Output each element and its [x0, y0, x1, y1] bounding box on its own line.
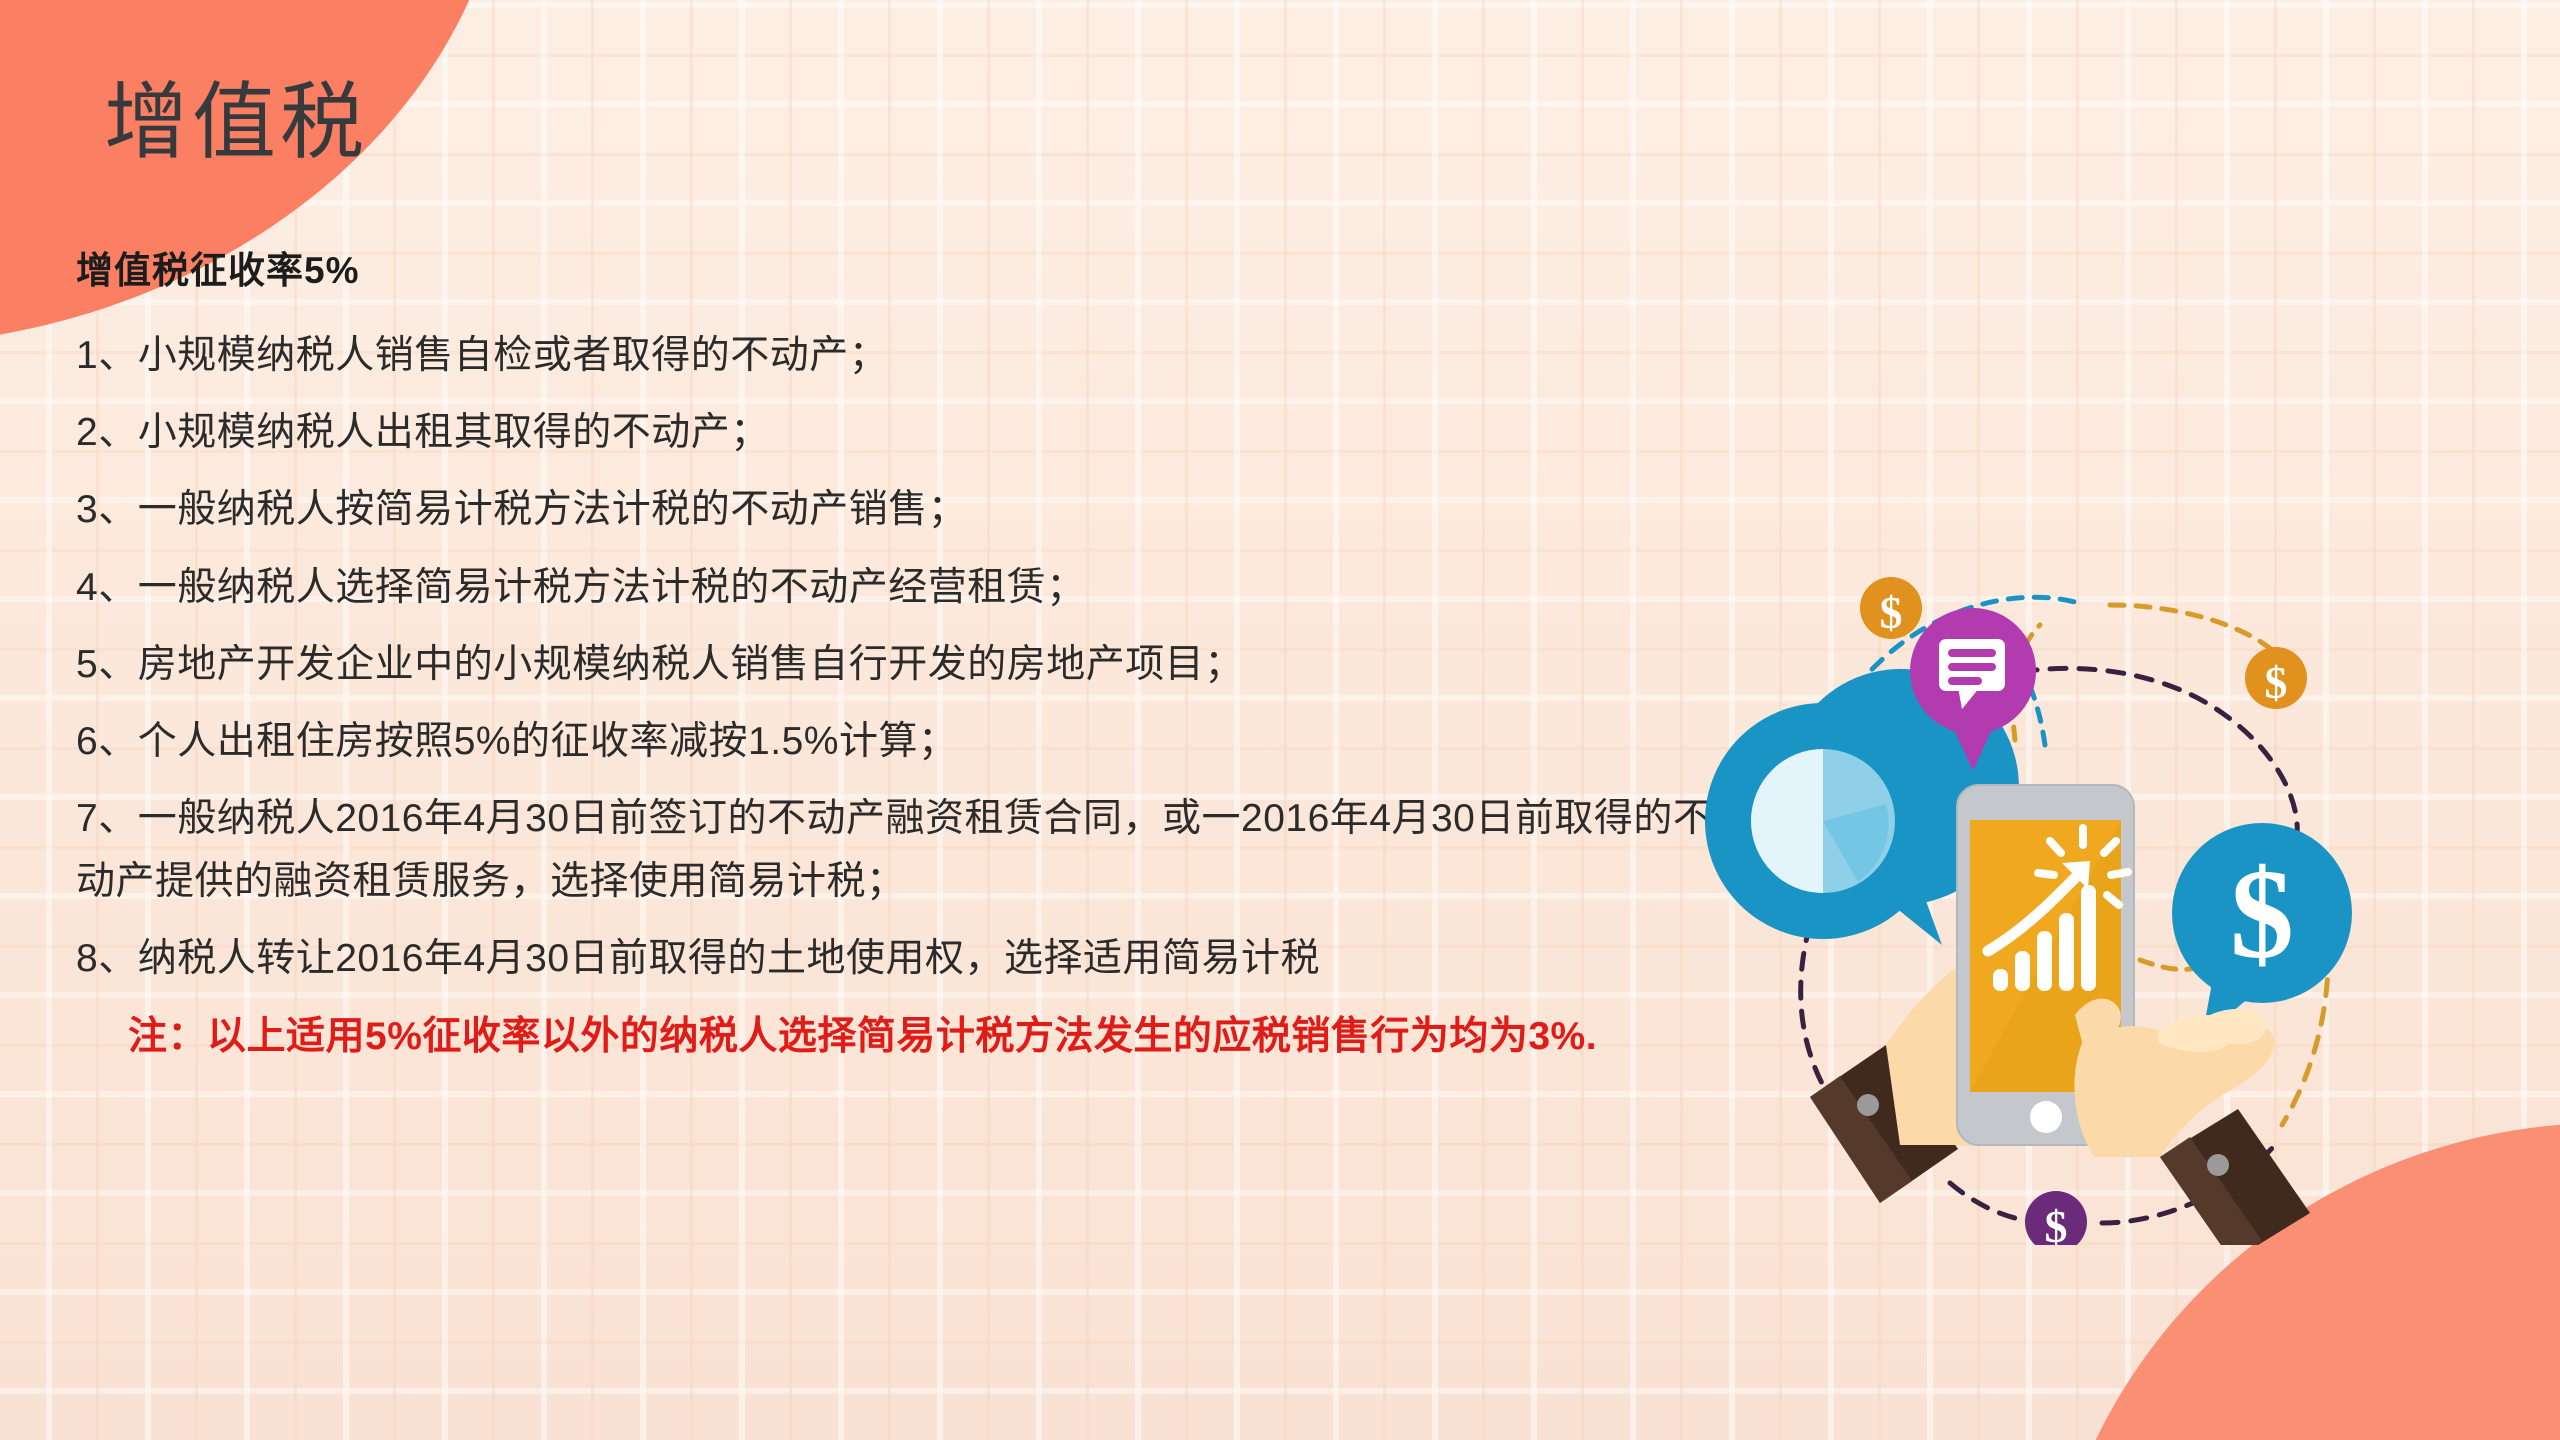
- subheading: 增值税征收率5%: [76, 240, 1716, 294]
- list-item: 2、小规模纳税人出租其取得的不动产；: [76, 401, 1716, 464]
- list-item: 7、一般纳税人2016年4月30日前签订的不动产融资租赁合同，或一2016年4月…: [76, 787, 1716, 913]
- list-item: 4、一般纳税人选择简易计税方法计税的不动产经营租赁；: [76, 556, 1716, 619]
- list-item: 3、一般纳税人按简易计税方法计税的不动产销售；: [76, 478, 1716, 541]
- mobile-business-analytics-illustration: $ $ $ $: [1690, 545, 2460, 1245]
- dollar-coin-top-right: $: [2245, 647, 2307, 709]
- svg-text:$: $: [2230, 843, 2294, 985]
- slide-canvas: 增值税 增值税征收率5% 1、小规模纳税人销售自检或者取得的不动产； 2、小规模…: [0, 0, 2560, 1440]
- dollar-coin-bottom: $: [2025, 1191, 2087, 1245]
- dollar-speech-bubble: $: [2172, 823, 2352, 1037]
- svg-text:$: $: [2265, 657, 2288, 708]
- list-item: 5、房地产开发企业中的小规模纳税人销售自行开发的房地产项目；: [76, 633, 1716, 696]
- svg-text:$: $: [1880, 587, 1903, 638]
- list-item: 1、小规模纳税人销售自检或者取得的不动产；: [76, 324, 1716, 387]
- dollar-coin-top-left: $: [1860, 577, 1922, 639]
- page-title: 增值税: [104, 74, 368, 171]
- list-item: 8、纳税人转让2016年4月30日前取得的土地使用权，选择适用简易计税: [76, 927, 1716, 990]
- list-item: 6、个人出租住房按照5%的征收率减按1.5%计算；: [76, 710, 1716, 773]
- content-body: 增值税征收率5% 1、小规模纳税人销售自检或者取得的不动产； 2、小规模纳税人出…: [76, 240, 1716, 1107]
- hand-tapping-phone: [2074, 999, 2310, 1245]
- rate-list: 1、小规模纳税人销售自检或者取得的不动产； 2、小规模纳税人出租其取得的不动产；…: [76, 324, 1716, 991]
- note-text: 注：以上适用5%征收率以外的纳税人选择简易计税方法发生的应税销售行为均为3%.: [76, 1005, 1716, 1068]
- svg-text:$: $: [2045, 1201, 2068, 1245]
